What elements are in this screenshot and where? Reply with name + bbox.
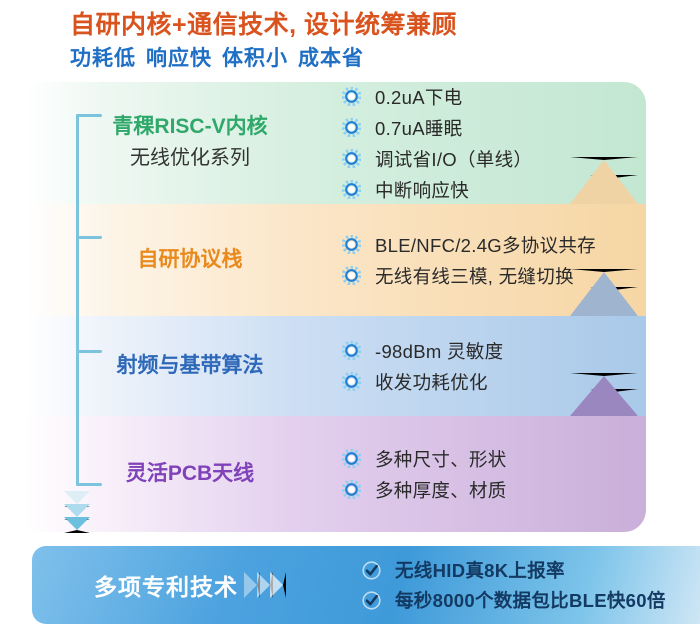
- rail-tick-2: [76, 350, 102, 353]
- list-item: BLE/NFC/2.4G多协议共存: [342, 232, 646, 258]
- point-text: 0.2uA下电: [375, 84, 462, 110]
- point-text: 多种尺寸、形状: [375, 446, 507, 472]
- subtitle-item-2: 体积小: [222, 47, 288, 70]
- check-badge-icon: [362, 591, 381, 610]
- radial-burst-ring-icon: [342, 449, 361, 468]
- list-item: 多种厚度、材质: [342, 477, 646, 503]
- rail-chevron-group: [64, 491, 90, 530]
- radial-burst-ring-icon: [342, 118, 361, 137]
- list-item: 调试省I/O（单线）: [342, 146, 646, 172]
- list-item: 0.7uA睡眠: [342, 115, 646, 141]
- subtitle-item-1: 响应快: [146, 47, 212, 70]
- point-text: 每秒8000个数据包比BLE快60倍: [395, 587, 666, 613]
- band-label-pcb-antenna: 灵活PCB天线: [0, 460, 280, 488]
- band-title: 灵活PCB天线: [100, 460, 280, 488]
- band-label-core: 青稞RISC-V内核 无线优化系列: [0, 113, 280, 172]
- band-point-list-core: 0.2uA下电 0.7uA睡眠 调试省I/O（单线） 中断响应快: [280, 82, 646, 204]
- radial-burst-ring-icon: [342, 180, 361, 199]
- radial-burst-ring-icon: [342, 341, 361, 360]
- radial-burst-ring-icon: [342, 480, 361, 499]
- radial-burst-ring-icon: [342, 87, 361, 106]
- point-text: 中断响应快: [375, 177, 469, 203]
- band-title: 射频与基带算法: [100, 352, 280, 380]
- page-title: 自研内核+通信技术, 设计统筹兼顾: [70, 10, 670, 41]
- rail-tick-0: [76, 114, 102, 117]
- header: 自研内核+通信技术, 设计统筹兼顾 功耗低响应快体积小成本省: [70, 10, 670, 74]
- band-label-rf-baseband: 射频与基带算法: [0, 352, 280, 380]
- point-text: BLE/NFC/2.4G多协议共存: [375, 232, 596, 258]
- list-item: 0.2uA下电: [342, 84, 646, 110]
- list-item: 多种尺寸、形状: [342, 446, 646, 472]
- point-text: -98dBm 灵敏度: [375, 338, 503, 364]
- rail-vertical-line: [76, 114, 79, 486]
- list-item: 无线有线三模, 无缝切换: [342, 263, 646, 289]
- radial-burst-ring-icon: [342, 235, 361, 254]
- band-point-list-protocol-stack: BLE/NFC/2.4G多协议共存 无线有线三模, 无缝切换: [280, 227, 646, 294]
- list-item: 收发功耗优化: [342, 369, 646, 395]
- triple-chevron-right-icon: [244, 572, 354, 598]
- band-point-list-rf-baseband: -98dBm 灵敏度 收发功耗优化: [280, 333, 646, 400]
- list-item: -98dBm 灵敏度: [342, 338, 646, 364]
- radial-burst-ring-icon: [342, 266, 361, 285]
- point-text: 无线HID真8K上报率: [395, 557, 565, 583]
- rail-tick-3: [76, 483, 102, 486]
- rail-tick-1: [76, 236, 102, 239]
- bracket-rail-with-chevrons-icon: [76, 108, 106, 538]
- radial-burst-ring-icon: [342, 149, 361, 168]
- band-title: 青稞RISC-V内核: [100, 113, 280, 141]
- patent-highlight-bar: 多项专利技术 无线HID真8K上报率 每秒8000个数据包比BLE快60倍: [32, 546, 700, 624]
- radial-burst-ring-icon: [342, 372, 361, 391]
- list-item: 每秒8000个数据包比BLE快60倍: [362, 587, 700, 613]
- band-title: 自研协议栈: [100, 246, 280, 274]
- chevron-down-icon: [64, 517, 90, 533]
- bar-title: 多项专利技术: [32, 568, 244, 602]
- check-badge-icon: [362, 561, 381, 580]
- point-text: 多种厚度、材质: [375, 477, 507, 503]
- page-subtitle: 功耗低响应快体积小成本省: [70, 45, 670, 73]
- subtitle-item-0: 功耗低: [70, 47, 136, 70]
- band-label-protocol-stack: 自研协议栈: [0, 246, 280, 274]
- band-subtitle: 无线优化系列: [100, 144, 280, 173]
- point-text: 无线有线三模, 无缝切换: [375, 263, 574, 289]
- point-text: 收发功耗优化: [375, 369, 488, 395]
- point-text: 调试省I/O（单线）: [375, 146, 532, 172]
- point-text: 0.7uA睡眠: [375, 115, 462, 141]
- bar-point-list: 无线HID真8K上报率 每秒8000个数据包比BLE快60倍: [354, 553, 700, 617]
- list-item: 中断响应快: [342, 177, 646, 203]
- band-point-list-pcb-antenna: 多种尺寸、形状 多种厚度、材质: [280, 441, 646, 508]
- chevron-right-icon: [270, 572, 286, 598]
- subtitle-item-3: 成本省: [298, 47, 364, 70]
- list-item: 无线HID真8K上报率: [362, 557, 700, 583]
